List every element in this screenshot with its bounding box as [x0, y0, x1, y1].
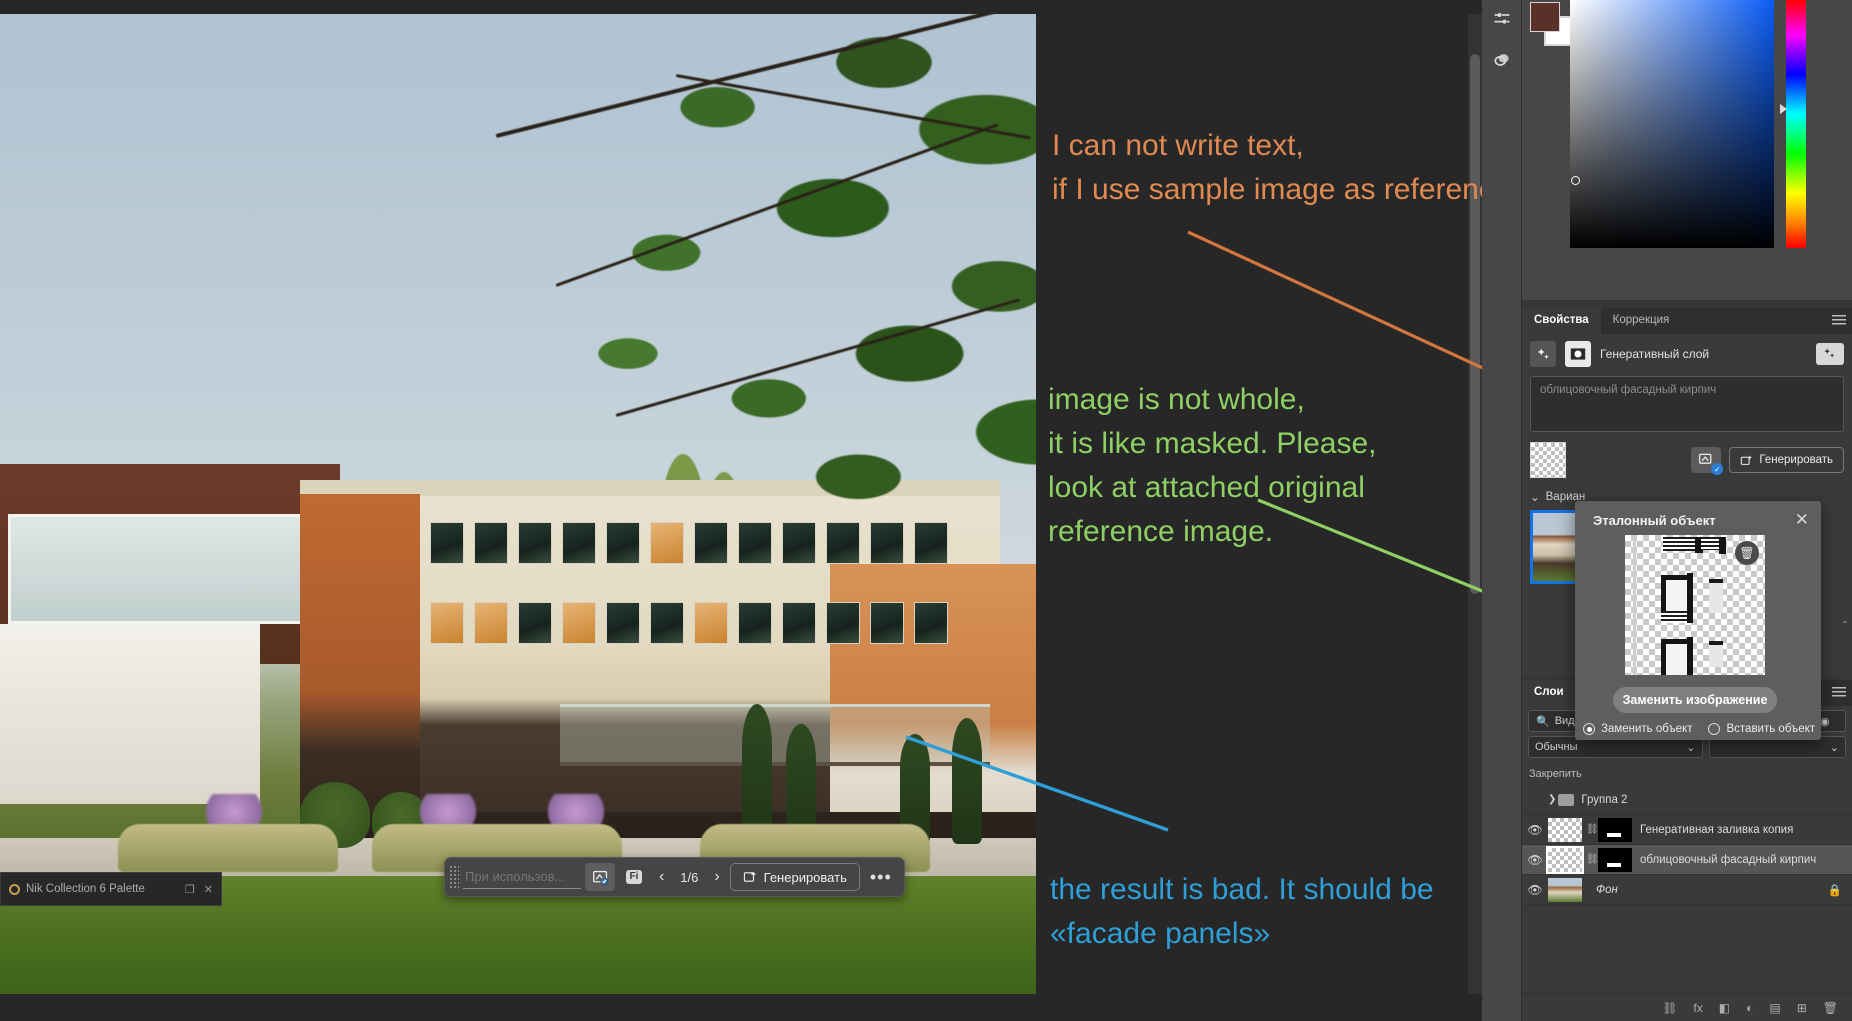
cypress-tree	[952, 718, 982, 844]
reference-image-icon[interactable]	[585, 863, 615, 891]
prompt-input[interactable]	[463, 865, 581, 889]
layer-thumbnail[interactable]	[1548, 848, 1582, 872]
annotation-green: image is not whole, it is like masked. P…	[1048, 378, 1376, 554]
dodge-burn-tool[interactable]	[1482, 40, 1522, 80]
layer-row[interactable]: 👁 ⛓ Генеративная заливка копия	[1522, 815, 1852, 845]
prompt-controls-row: ✓ Генерировать	[1522, 432, 1852, 478]
tab-layers[interactable]: Слои	[1522, 680, 1576, 706]
radio-label: Заменить объект	[1601, 723, 1692, 735]
close-icon[interactable]: ✕	[204, 883, 213, 896]
layer-name: Фон	[1596, 884, 1618, 896]
radio-label: Вставить объект	[1726, 723, 1815, 735]
nik-collection-panel[interactable]: Nik Collection 6 Palette ❐ ✕	[0, 872, 222, 906]
reference-thumbnail[interactable]	[1530, 442, 1566, 478]
link-icon[interactable]: ⛓	[1586, 854, 1598, 865]
radio-replace-object[interactable]: Заменить объект	[1583, 723, 1692, 735]
nik-panel-title: Nik Collection 6 Palette	[26, 883, 145, 895]
generate-button[interactable]: Генерировать	[730, 863, 860, 891]
color-picker-panel[interactable]	[1570, 0, 1852, 300]
link-icon[interactable]: ⛓	[1586, 824, 1598, 835]
layer-mask-thumbnail[interactable]	[1598, 848, 1632, 872]
layer-thumbnail[interactable]	[1548, 818, 1582, 842]
generate-label: Генерировать	[1759, 454, 1833, 466]
tab-properties[interactable]: Свойства	[1522, 308, 1601, 334]
nik-logo-icon	[9, 884, 20, 895]
annotation-blue: the result is bad. It should be «facade …	[1050, 868, 1434, 956]
folder-icon	[1558, 794, 1574, 806]
sparkle-icon	[1530, 341, 1556, 367]
building-orange-wing	[300, 494, 420, 824]
photoshop-window: Fi ‹ 1/6 › Генерировать ••• Nik Collecti…	[0, 0, 1852, 1021]
tree-canopy	[436, 14, 1036, 544]
generate-label: Генерировать	[764, 870, 847, 885]
layer-filter-label: Вид	[1555, 715, 1575, 727]
add-mask-icon[interactable]: ◧	[1719, 1001, 1730, 1015]
generate-icon	[743, 870, 757, 884]
taskbar-drag-handle[interactable]	[449, 865, 459, 889]
radio-dot	[1583, 723, 1595, 735]
radio-insert-object[interactable]: Вставить объект	[1708, 723, 1815, 735]
building-left-white	[0, 624, 260, 804]
layer-thumbnail[interactable]	[1548, 878, 1582, 902]
generative-layer-label: Генеративный слой	[1600, 347, 1709, 361]
reference-object-popover[interactable]: Эталонный объект ✕ 🗑 Заменить изображени…	[1575, 501, 1821, 740]
tool-strip[interactable]	[1482, 0, 1522, 1021]
visibility-toggle-icon[interactable]: 👁	[1522, 853, 1548, 867]
new-group-icon[interactable]: ▤	[1769, 1001, 1780, 1015]
generative-layer-row: Генеративный слой	[1522, 334, 1852, 374]
link-layers-icon[interactable]: ⛓	[1662, 1001, 1677, 1015]
hedge	[118, 824, 338, 872]
layer-name: Генеративная заливка копия	[1640, 824, 1793, 836]
prev-variation-button[interactable]: ‹	[653, 868, 670, 886]
layer-name: Группа 2	[1581, 794, 1627, 806]
chevron-down-icon: ⌄	[1686, 741, 1695, 754]
foreground-color-swatch[interactable]	[1530, 2, 1560, 32]
lock-label: Закрепить	[1529, 768, 1582, 780]
layer-name: облицовочный фасадный кирпич	[1640, 854, 1816, 866]
panel-menu-icon[interactable]	[1832, 687, 1846, 699]
building-left-glazing	[8, 514, 308, 624]
properties-generate-button[interactable]: Генерировать	[1729, 447, 1844, 473]
reference-mode-options[interactable]: Заменить объект Вставить объект	[1583, 723, 1815, 735]
close-icon[interactable]: ✕	[1795, 510, 1809, 530]
panel-menu-icon[interactable]	[1832, 315, 1846, 327]
color-field[interactable]	[1570, 0, 1774, 248]
replace-image-button[interactable]: Заменить изображение	[1613, 687, 1777, 713]
scroll-up-icon[interactable]: ⌃	[1839, 620, 1851, 631]
color-field-cursor[interactable]	[1571, 176, 1580, 185]
trash-icon[interactable]: 🗑	[1735, 541, 1759, 565]
layer-row-background[interactable]: 👁 Фон 🔒	[1522, 875, 1852, 905]
chevron-down-icon: ⌄	[1530, 490, 1540, 504]
layer-row-selected[interactable]: 👁 ⛓ облицовочный фасадный кирпич	[1522, 845, 1852, 875]
new-layer-icon[interactable]: ⊞	[1797, 1001, 1807, 1015]
annotation-orange: I can not write text, if I use sample im…	[1052, 124, 1511, 212]
enabled-check-icon: ✓	[1711, 463, 1723, 475]
maximize-icon[interactable]: ❐	[185, 883, 195, 896]
tab-corrections[interactable]: Коррекция	[1601, 308, 1682, 334]
contextual-taskbar[interactable]: Fi ‹ 1/6 › Генерировать •••	[444, 857, 905, 897]
layer-row-group[interactable]: ❯ Группа 2	[1522, 785, 1852, 815]
blend-mode-label: Обычны	[1535, 741, 1577, 753]
lock-icon[interactable]: 🔒	[1828, 883, 1842, 897]
layer-style-fx-icon[interactable]: fx	[1693, 1001, 1702, 1015]
reference-toggle-icon[interactable]: ✓	[1691, 447, 1721, 473]
radio-dot	[1708, 723, 1720, 735]
layer-mask-thumbnail[interactable]	[1598, 818, 1632, 842]
prompt-textarea[interactable]: облицовочный фасадный кирпич	[1530, 376, 1844, 432]
cypress-tree	[742, 704, 772, 844]
lock-row: Закрепить	[1522, 766, 1852, 785]
generate-icon	[1740, 454, 1753, 467]
visibility-toggle-icon[interactable]: 👁	[1522, 883, 1548, 897]
adjustment-layer-icon[interactable]: ◐	[1746, 1001, 1753, 1015]
chevron-right-icon[interactable]: ❯	[1548, 794, 1556, 805]
search-icon: 🔍	[1536, 715, 1550, 728]
delete-layer-icon[interactable]: 🗑	[1823, 1001, 1838, 1015]
layers-toolbar[interactable]: ⛓ fx ◧ ◐ ▤ ⊞ 🗑	[1522, 993, 1852, 1021]
window-row	[430, 602, 948, 644]
expand-icon[interactable]	[1816, 343, 1844, 365]
canvas-render-image[interactable]	[0, 14, 1036, 994]
next-variation-button[interactable]: ›	[708, 868, 725, 886]
variation-counter: 1/6	[674, 870, 704, 885]
toggle-icon: ◉	[1820, 715, 1830, 728]
adjustments-tool[interactable]	[1482, 0, 1522, 40]
chevron-down-icon: ⌄	[1830, 741, 1839, 754]
reference-object-preview[interactable]: 🗑	[1625, 535, 1765, 675]
layer-mask-icon	[1565, 341, 1591, 367]
color-swatch-area[interactable]	[1522, 0, 1570, 300]
visibility-toggle-icon[interactable]: 👁	[1522, 823, 1548, 837]
reference-popover-title: Эталонный объект	[1575, 501, 1821, 528]
firefly-icon[interactable]: Fi	[619, 863, 649, 891]
hue-slider[interactable]	[1786, 0, 1806, 248]
more-options-button[interactable]: •••	[864, 867, 898, 888]
hue-slider-marker[interactable]	[1780, 104, 1787, 114]
properties-tabs[interactable]: Свойства Коррекция	[1522, 308, 1852, 334]
